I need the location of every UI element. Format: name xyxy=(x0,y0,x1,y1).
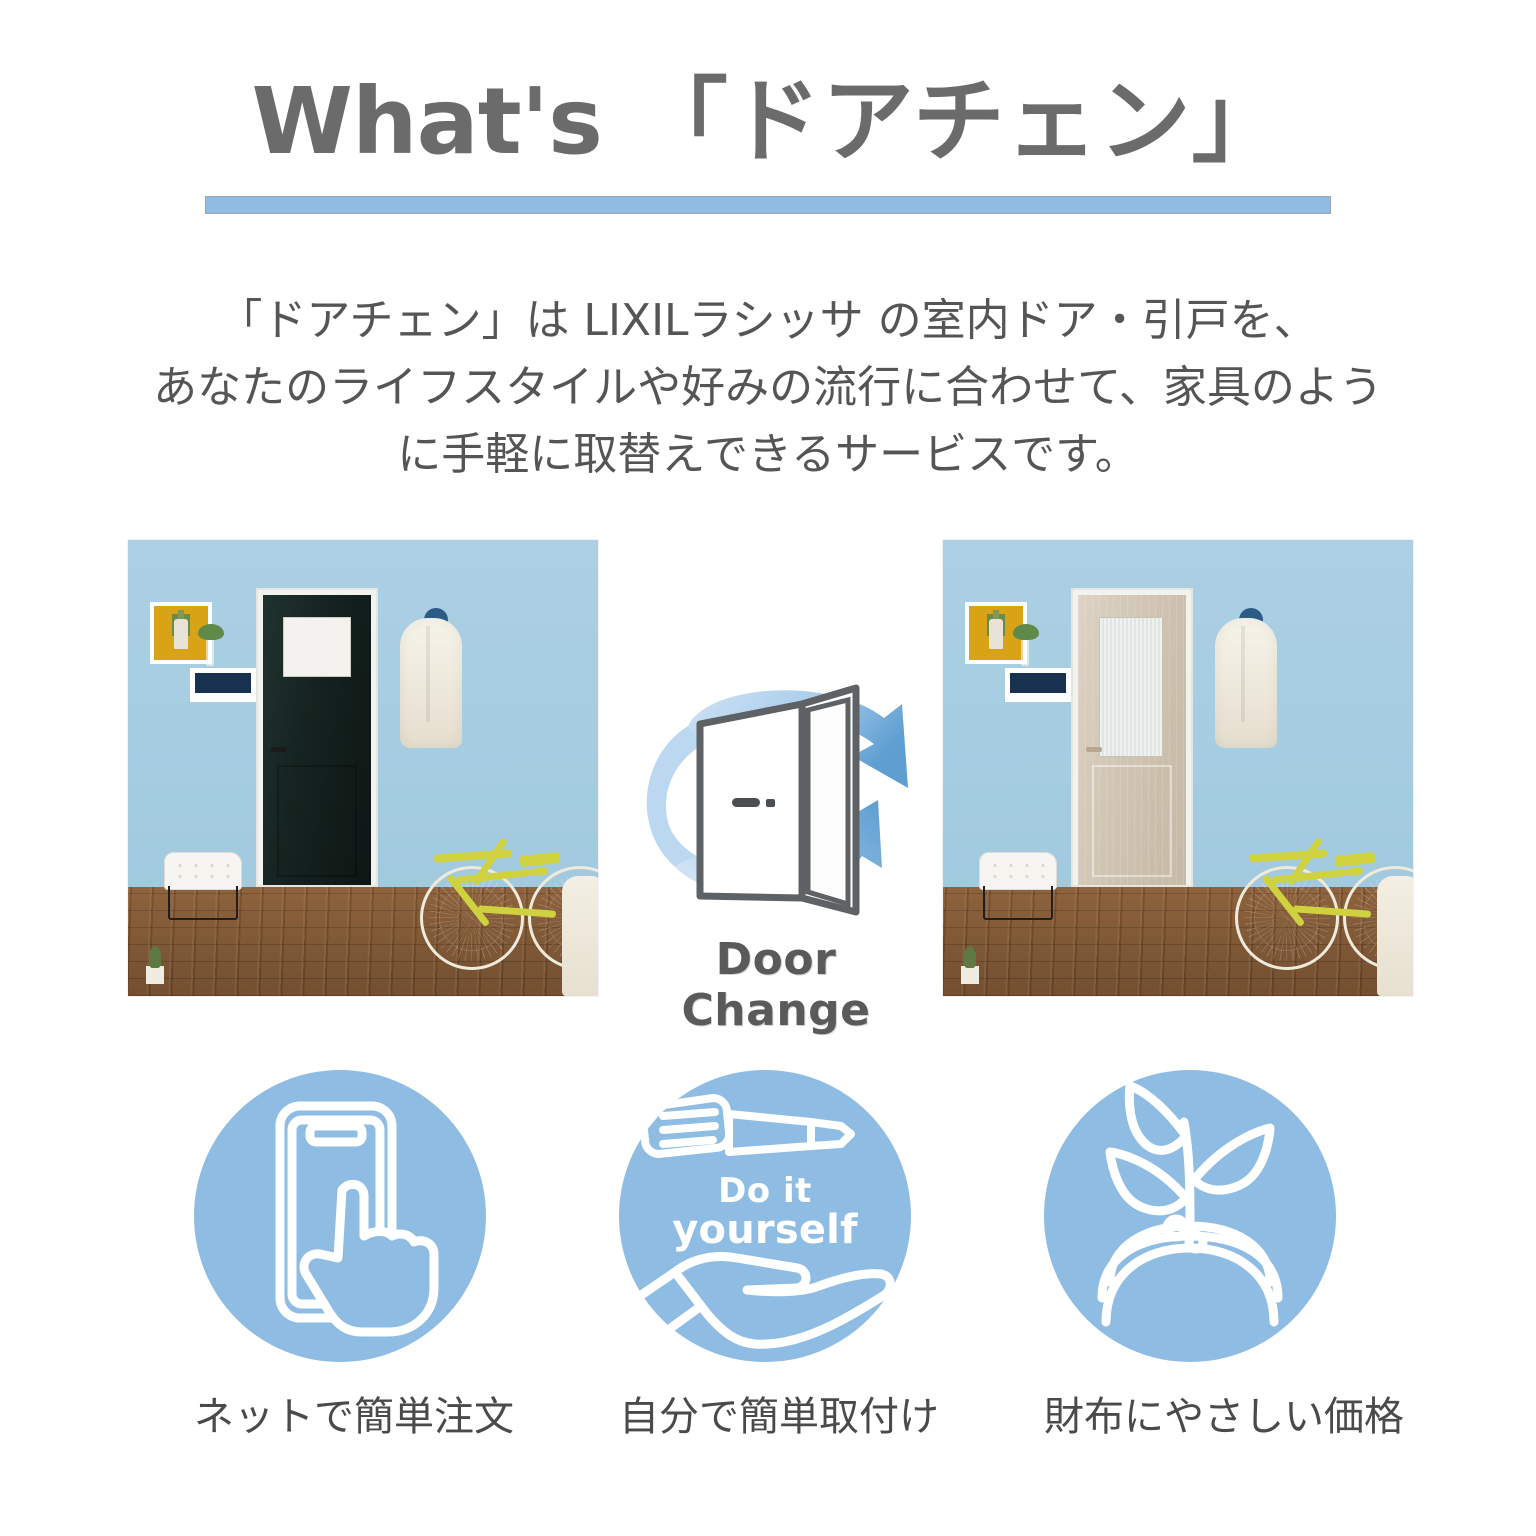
before-room-photo xyxy=(128,540,598,996)
hanging-towel xyxy=(1377,876,1413,996)
floor-plant-pot xyxy=(961,966,979,984)
door-handle xyxy=(271,747,287,752)
title-underline-bar xyxy=(205,196,1331,214)
door-frame xyxy=(1071,588,1193,887)
interior-door-dark xyxy=(263,595,371,885)
feature-icon-circle xyxy=(194,1070,486,1362)
vase-plant xyxy=(1021,636,1029,666)
white-chair xyxy=(164,852,242,896)
interior-door-light xyxy=(1078,595,1186,885)
smartphone-tap-icon xyxy=(194,1070,486,1362)
lead-line-2: あなたのライフスタイルや好みの流行に合わせて、家具のよう xyxy=(80,355,1456,422)
hanging-towel xyxy=(562,876,598,996)
lead-line-1: 「ドアチェン」は LIXILラシッサ の室内ドア・引戸を、 xyxy=(80,288,1456,355)
after-room-photo xyxy=(943,540,1413,996)
diy-badge: Do it yourself xyxy=(619,1174,911,1250)
feature-friendly-price[interactable]: 財布にやさしい価格 xyxy=(1044,1070,1336,1442)
floor-plant-pot xyxy=(146,966,164,984)
door-rotating-arrow-icon xyxy=(616,660,936,940)
feature-label: ネットで簡単注文 xyxy=(194,1384,486,1442)
features-row: ネットで簡単注文 xyxy=(0,1070,1536,1490)
white-chair xyxy=(979,852,1057,896)
lead-paragraph: 「ドアチェン」は LIXILラシッサ の室内ドア・引戸を、 あなたのライフスタイ… xyxy=(80,288,1456,489)
wall-shelf-navy xyxy=(1005,668,1071,702)
page-title-jp: 「ドアチェン」 xyxy=(636,68,1285,175)
door-change-logo: Door Change xyxy=(616,660,936,1000)
white-coat xyxy=(400,618,462,748)
feature-label: 自分で簡単取付け xyxy=(619,1384,911,1442)
feature-online-order[interactable]: ネットで簡単注文 xyxy=(194,1070,486,1442)
diy-line-1: Do it xyxy=(619,1174,911,1208)
door-frame xyxy=(256,588,378,887)
white-coat xyxy=(1215,618,1277,748)
door-handle-icon xyxy=(732,798,775,807)
feature-label: 財布にやさしい価格 xyxy=(1044,1384,1336,1442)
feature-icon-circle xyxy=(1044,1070,1336,1362)
door-lower-panel xyxy=(1092,765,1172,877)
lead-line-3: に手軽に取替えできるサービスです。 xyxy=(80,422,1456,489)
door-glass-panel xyxy=(1099,617,1163,757)
wallet-sprout-icon xyxy=(1044,1070,1336,1362)
page-title-en: What's xyxy=(251,68,601,175)
logo-caption: Door Change xyxy=(616,934,936,1036)
door-lower-panel xyxy=(277,765,357,877)
door-handle xyxy=(1086,747,1102,752)
diy-line-2: yourself xyxy=(619,1210,911,1250)
page-title: What's「ドアチェン」 xyxy=(0,72,1536,171)
poster-page: What's「ドアチェン」 「ドアチェン」は LIXILラシッサ の室内ドア・引… xyxy=(0,0,1536,1536)
door-glass-panel xyxy=(283,617,351,677)
feature-diy-install[interactable]: Do it yourself 自分で簡単取付け xyxy=(619,1070,911,1442)
vase-plant xyxy=(206,636,214,666)
feature-icon-circle: Do it yourself xyxy=(619,1070,911,1362)
wall-shelf-navy xyxy=(190,668,256,702)
